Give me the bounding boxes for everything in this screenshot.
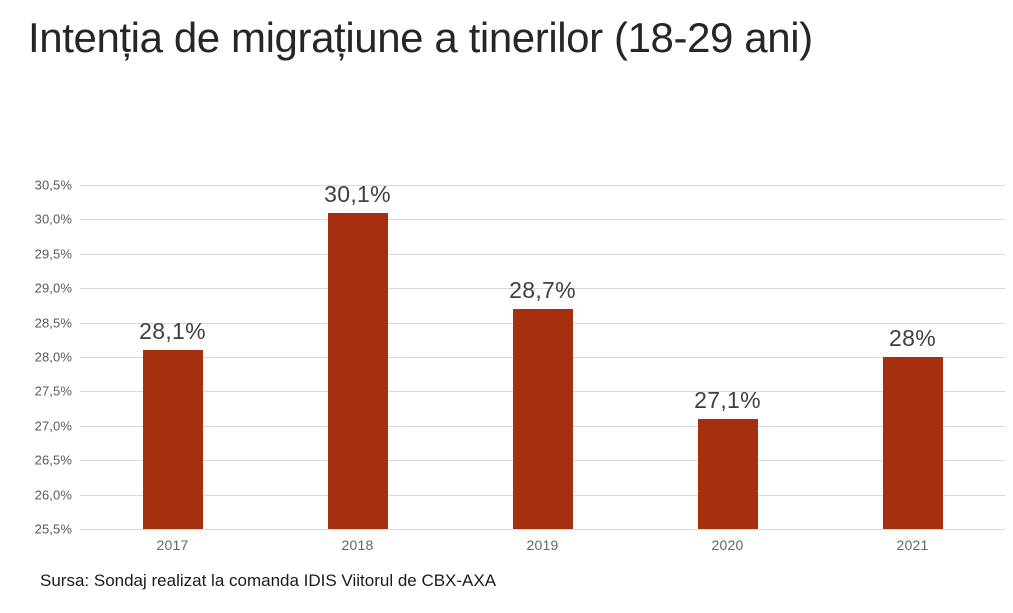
y-axis-tick-label: 30,5% [35,178,72,193]
y-axis-tick-label: 27,0% [35,418,72,433]
y-axis-tick-label: 26,0% [35,487,72,502]
plot-area: 28,1%30,1%28,7%27,1%28% [80,185,1005,529]
x-axis-category-label: 2020 [635,537,820,553]
y-axis-tick-label: 29,5% [35,246,72,261]
x-axis-category-label: 2019 [450,537,635,553]
y-axis-tick-label: 27,5% [35,384,72,399]
chart-title: Intenția de migrațiune a tinerilor (18-2… [28,14,813,62]
x-axis-category-label: 2021 [820,537,1005,553]
x-axis-category-label: 2018 [265,537,450,553]
bar[interactable] [143,350,203,529]
bar-value-label: 28,1% [80,318,265,345]
y-axis-tick-label: 30,0% [35,212,72,227]
bar-value-label: 28% [820,325,1005,352]
bar[interactable] [513,309,573,529]
x-axis-category-label: 2017 [80,537,265,553]
gridline [80,185,1005,186]
y-axis-tick-label: 28,5% [35,315,72,330]
y-axis-tick-label: 29,0% [35,281,72,296]
bar-value-label: 27,1% [635,387,820,414]
bar[interactable] [883,357,943,529]
gridline [80,529,1005,530]
gridline [80,254,1005,255]
bar[interactable] [328,213,388,529]
y-axis: 30,5%30,0%29,5%29,0%28,5%28,0%27,5%27,0%… [0,185,72,529]
y-axis-tick-label: 28,0% [35,350,72,365]
gridline [80,219,1005,220]
chart-container: Intenția de migrațiune a tinerilor (18-2… [0,0,1013,613]
source-note: Sursa: Sondaj realizat la comanda IDIS V… [40,571,496,591]
y-axis-tick-label: 26,5% [35,453,72,468]
y-axis-tick-label: 25,5% [35,522,72,537]
bar[interactable] [698,419,758,529]
bar-value-label: 30,1% [265,181,450,208]
bar-value-label: 28,7% [450,277,635,304]
